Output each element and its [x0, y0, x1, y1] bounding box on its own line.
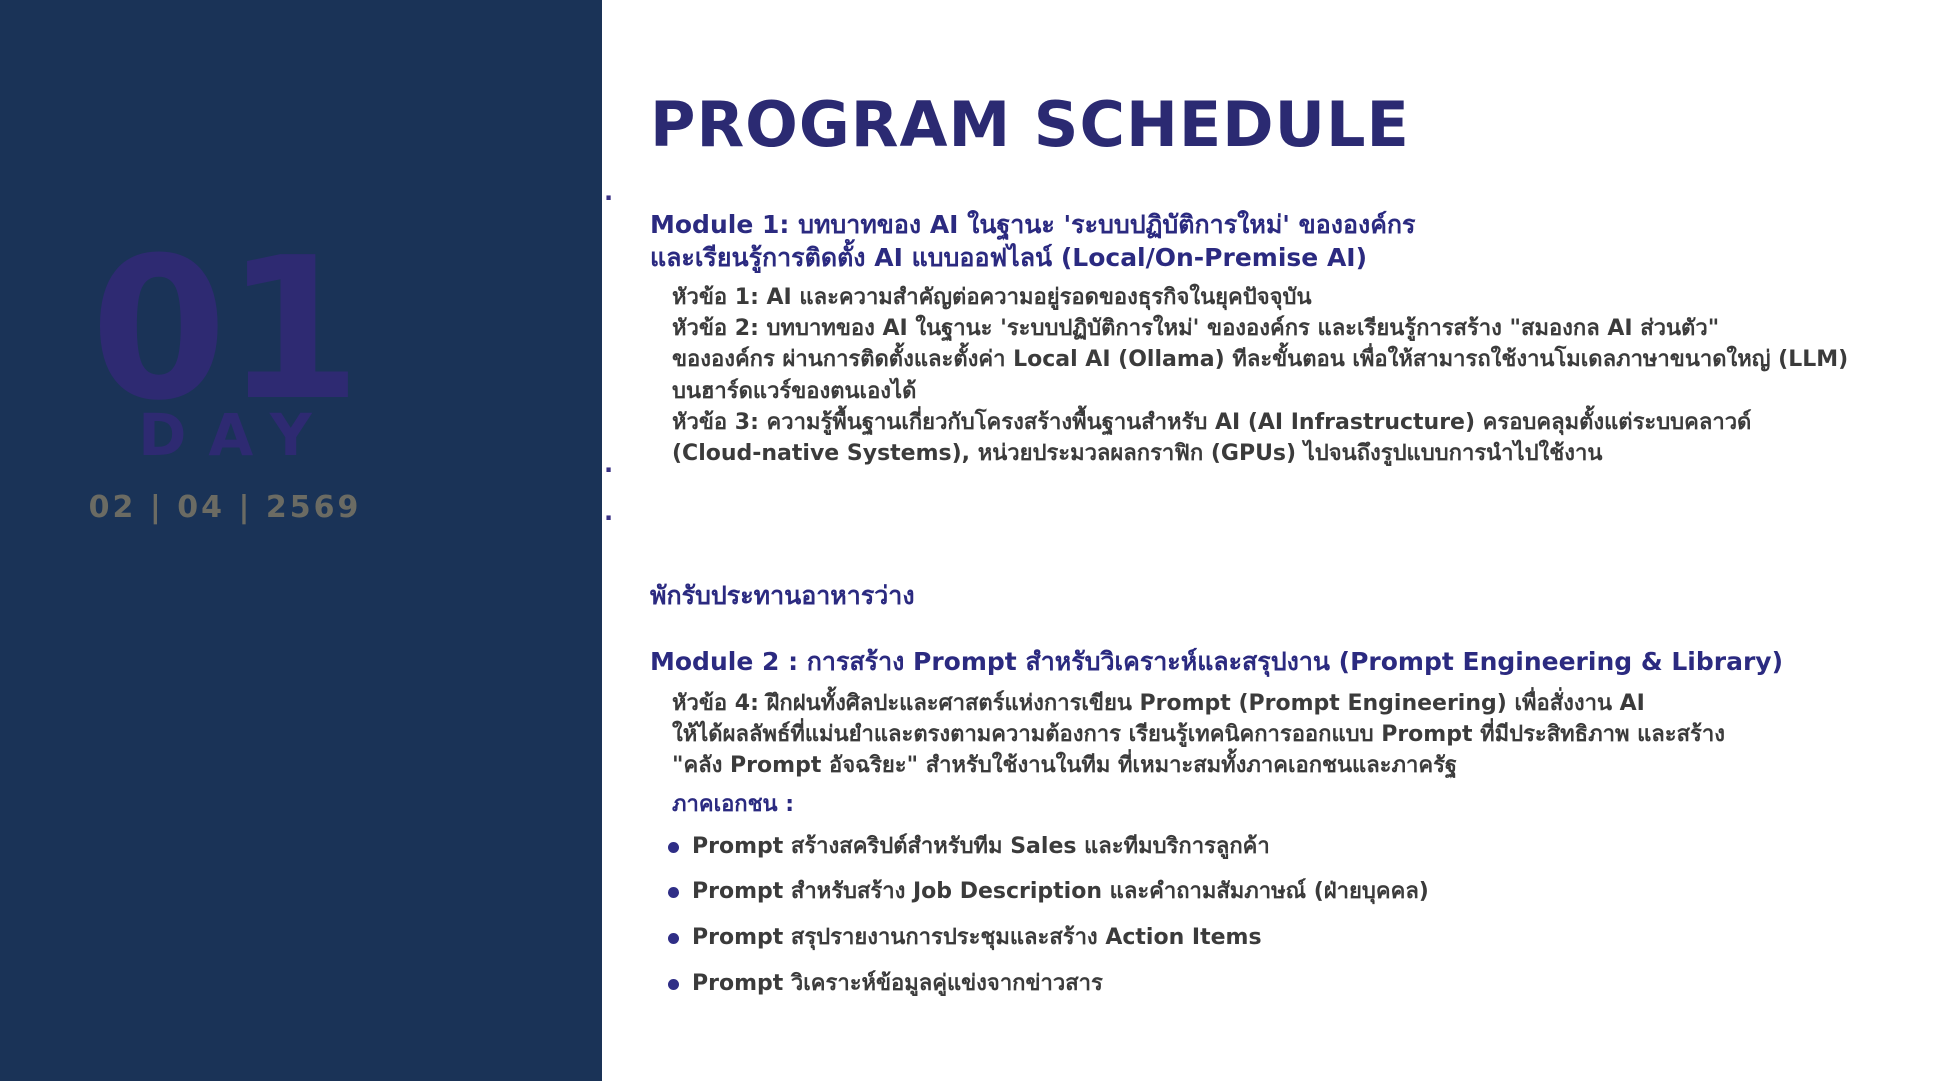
- bullet-dot-icon: [668, 842, 679, 853]
- slide-root: 09.00 - 10.30 u. 10.30 - 10.45 u. 10.45 …: [0, 0, 1949, 1085]
- day-word: DAY: [0, 406, 450, 464]
- module-1-heading-line-2: และเรียนรู้การติดตั้ง AI แบบออฟไลน์ (Loc…: [650, 241, 1935, 274]
- private-sector-list: Prompt สร้างสคริปต์สำหรับทีม Sales และที…: [650, 833, 1650, 998]
- schedule-content: PROGRAM SCHEDULE Module 1: บทบาทของ AI ใ…: [640, 0, 1930, 1085]
- day-panel: 01 DAY 02 | 04 | 2569: [0, 0, 602, 1081]
- module-1-topic-line: (Cloud-native Systems), หน่วยประมวลผลกรา…: [650, 438, 1935, 469]
- module-2-topic-line: ให้ได้ผลลัพธ์ที่แม่นยำและตรงตามความต้องก…: [650, 719, 1935, 750]
- module-1-topic-line: บนฮาร์ดแวร์ของตนเองได้: [650, 376, 1935, 407]
- day-date: 02 | 04 | 2569: [0, 490, 450, 525]
- list-item-label: Prompt สรุปรายงานการประชุมและสร้าง Actio…: [692, 925, 1262, 950]
- bullet-dot-icon: [668, 887, 679, 898]
- module-2-heading: Module 2 : การสร้าง Prompt สำหรับวิเคราะ…: [650, 645, 1935, 678]
- module-1-topic-line: ขององค์กร ผ่านการติดตั้งและตั้งค่า Local…: [650, 344, 1935, 375]
- module-2-topics: หัวข้อ 4: ฝึกฝนทั้งศิลปะและศาสตร์แห่งการ…: [650, 688, 1935, 782]
- module-1-heading-line-1: Module 1: บทบาทของ AI ในฐานะ 'ระบบปฏิบัต…: [650, 208, 1935, 241]
- module-1-block: Module 1: บทบาทของ AI ในฐานะ 'ระบบปฏิบัต…: [650, 208, 1935, 469]
- module-1-topic-line: หัวข้อ 3: ความรู้พื้นฐานเกี่ยวกับโครงสร้…: [650, 407, 1935, 438]
- module-2-topic-line: หัวข้อ 4: ฝึกฝนทั้งศิลปะและศาสตร์แห่งการ…: [650, 688, 1935, 719]
- module-1-topics: หัวข้อ 1: AI และความสำคัญต่อความอยู่รอดข…: [650, 282, 1935, 469]
- list-item-label: Prompt วิเคราะห์ข้อมูลคู่แข่งจากข่าวสาร: [692, 971, 1103, 996]
- bullet-dot-icon: [668, 979, 679, 990]
- module-1-topic-line: หัวข้อ 1: AI และความสำคัญต่อความอยู่รอดข…: [650, 282, 1935, 313]
- module-2-topic-line: "คลัง Prompt อัจฉริยะ" สำหรับใช้งานในทีม…: [650, 750, 1935, 781]
- break-label: พักรับประทานอาหารว่าง: [650, 580, 1650, 613]
- break-block: พักรับประทานอาหารว่าง: [650, 580, 1650, 613]
- list-item: Prompt สร้างสคริปต์สำหรับทีม Sales และที…: [650, 833, 1650, 862]
- bullet-dot-icon: [668, 933, 679, 944]
- list-item: Prompt สรุปรายงานการประชุมและสร้าง Actio…: [650, 924, 1650, 953]
- list-item-label: Prompt สำหรับสร้าง Job Description และคำ…: [692, 879, 1429, 904]
- private-sector-label: ภาคเอกชน :: [650, 790, 1650, 821]
- day-block: 01 DAY 02 | 04 | 2569: [0, 240, 450, 525]
- day-number: 01: [0, 240, 450, 420]
- page-title: PROGRAM SCHEDULE: [650, 88, 1410, 161]
- private-sector-block: ภาคเอกชน : Prompt สร้างสคริปต์สำหรับทีม …: [650, 790, 1650, 1015]
- module-2-block: Module 2 : การสร้าง Prompt สำหรับวิเคราะ…: [650, 645, 1935, 782]
- list-item-label: Prompt สร้างสคริปต์สำหรับทีม Sales และที…: [692, 834, 1270, 859]
- module-1-topic-line: หัวข้อ 2: บทบาทของ AI ในฐานะ 'ระบบปฏิบัต…: [650, 313, 1935, 344]
- list-item: Prompt วิเคราะห์ข้อมูลคู่แข่งจากข่าวสาร: [650, 970, 1650, 999]
- list-item: Prompt สำหรับสร้าง Job Description และคำ…: [650, 878, 1650, 907]
